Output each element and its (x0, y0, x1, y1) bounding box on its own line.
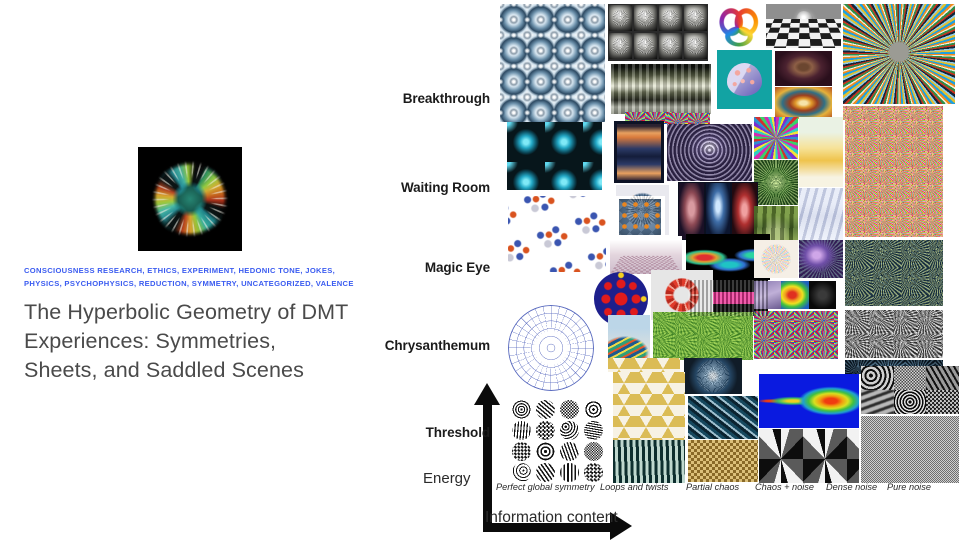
energy-information-chart: Breakthrough Waiting Room Magic Eye Chry… (368, 0, 960, 540)
halftone-disk (512, 400, 531, 419)
halftone-disk (536, 463, 555, 482)
cell-threshold-hex-pattern-top (608, 358, 680, 372)
article-thumbnail-image[interactable] (138, 147, 242, 251)
cell-breakthrough-teal-egg (717, 50, 772, 109)
cell-waiting-sunset-gradient (614, 121, 664, 183)
cell-breakthrough-checker-floor (766, 4, 841, 48)
x-tick-dense-noise: Dense noise (826, 482, 877, 492)
cell-threshold-pure-noise (861, 416, 959, 483)
x-tick-chaos-plus-noise: Chaos + noise (755, 482, 814, 492)
cell-threshold-diagonal-weave (688, 396, 758, 439)
noise-patch (894, 366, 927, 390)
x-tick-partial-chaos: Partial chaos (686, 482, 739, 492)
cell-waiting-triptych (678, 182, 758, 240)
noise-patch (894, 390, 927, 414)
cell-chrys-gray-deepdream (845, 310, 943, 358)
cell-threshold-halftone-disks (510, 398, 610, 482)
y-axis-title: Energy (423, 470, 471, 487)
halftone-disk (536, 442, 555, 461)
cell-breakthrough-maroon-fractal (775, 51, 832, 86)
halftone-disk (512, 463, 531, 482)
halftone-disk (536, 421, 555, 440)
y-tick-threshold: Threshold (368, 425, 490, 440)
cell-magiceye-bluegreen-fractal (845, 240, 943, 306)
cell-waiting-pink-chaos (845, 117, 943, 237)
teal-egg-shape (727, 63, 762, 96)
article-title[interactable]: The Hyperbolic Geometry of DMT Experienc… (24, 298, 354, 385)
cell-magiceye-perovskite (615, 196, 665, 238)
x-axis-title: Information content (485, 509, 618, 527)
checker-floor-blob (796, 11, 813, 30)
thumbnail-vignette (138, 147, 242, 251)
noise-patch (861, 390, 894, 414)
cell-waiting-kaleid-magenta (754, 117, 798, 159)
cell-waiting-ripple-figure (667, 124, 752, 181)
x-tick-perfect-global-symmetry: Perfect global symmetry (496, 482, 595, 492)
y-tick-chrysanthemum: Chrysanthemum (368, 338, 490, 353)
cell-breakthrough-big-fractal (843, 4, 955, 104)
article-card: CONSCIOUSNESS RESEARCH, ETHICS, EXPERIME… (0, 0, 380, 540)
halftone-disk (560, 442, 579, 461)
cell-magiceye-light-mandala (754, 240, 798, 278)
halftone-disk (512, 442, 531, 461)
article-category-links[interactable]: CONSCIOUSNESS RESEARCH, ETHICS, EXPERIME… (24, 264, 354, 290)
halftone-disk (560, 421, 579, 440)
x-tick-pure-noise: Pure noise (887, 482, 931, 492)
x-tick-loops-and-twists: Loops and twists (600, 482, 668, 492)
y-tick-magic-eye: Magic Eye (368, 260, 490, 275)
halftone-disk (584, 421, 603, 440)
halftone-disk (584, 442, 603, 461)
cell-breakthrough-perfect-symmetry (500, 4, 605, 122)
halftone-disk (536, 400, 555, 419)
cell-magiceye-lattice-3d (610, 236, 682, 274)
cell-breakthrough-knot (713, 4, 765, 52)
cell-threshold-flame-jet (759, 374, 859, 428)
cell-threshold-hex-pattern (613, 372, 685, 440)
cell-threshold-teal-weave (613, 440, 685, 483)
cell-waiting-green-fractal (754, 160, 798, 205)
halftone-disk (584, 400, 603, 419)
cell-magiceye-purple-dream (799, 240, 843, 278)
cell-threshold-metal-pyramids (759, 429, 859, 483)
cell-waiting-snow-path (799, 188, 843, 242)
cell-breakthrough-pano-room (611, 64, 711, 114)
halftone-disk (560, 400, 579, 419)
cell-chrys-hyperbolic-tiling (508, 305, 594, 391)
heatmap-panel-3 (809, 281, 836, 309)
y-tick-waiting-room: Waiting Room (368, 180, 490, 195)
halftone-disk (560, 463, 579, 482)
noise-patch (926, 390, 959, 414)
cell-waiting-kaleid-strip-b (668, 113, 710, 124)
cell-threshold-gold-weave (688, 440, 758, 482)
cell-threshold-dense-noise (861, 366, 959, 414)
cell-breakthrough-gold-mandala (775, 87, 832, 119)
cell-chrys-blue-arch (608, 315, 650, 359)
cell-chrys-green-field (653, 312, 753, 360)
cell-threshold-blue-dome (684, 358, 742, 394)
triptych-panel-2 (706, 183, 731, 239)
cell-magiceye-crystal-lattice (508, 196, 606, 272)
noise-patch (861, 366, 894, 390)
halftone-disk (512, 421, 531, 440)
cell-breakthrough-loops-spheres (608, 4, 708, 61)
y-tick-breakthrough: Breakthrough (368, 91, 490, 106)
noise-patch (926, 366, 959, 390)
halftone-disk (584, 463, 603, 482)
cell-magiceye-pink-bowtie (688, 280, 768, 316)
heatmap-panel-2 (781, 281, 808, 309)
cell-waiting-kaleid-gold (799, 117, 843, 187)
triptych-panel-1 (679, 183, 704, 239)
cell-chrys-rgb-chaos (754, 311, 838, 359)
cell-waiting-cyan-foam (507, 122, 602, 190)
